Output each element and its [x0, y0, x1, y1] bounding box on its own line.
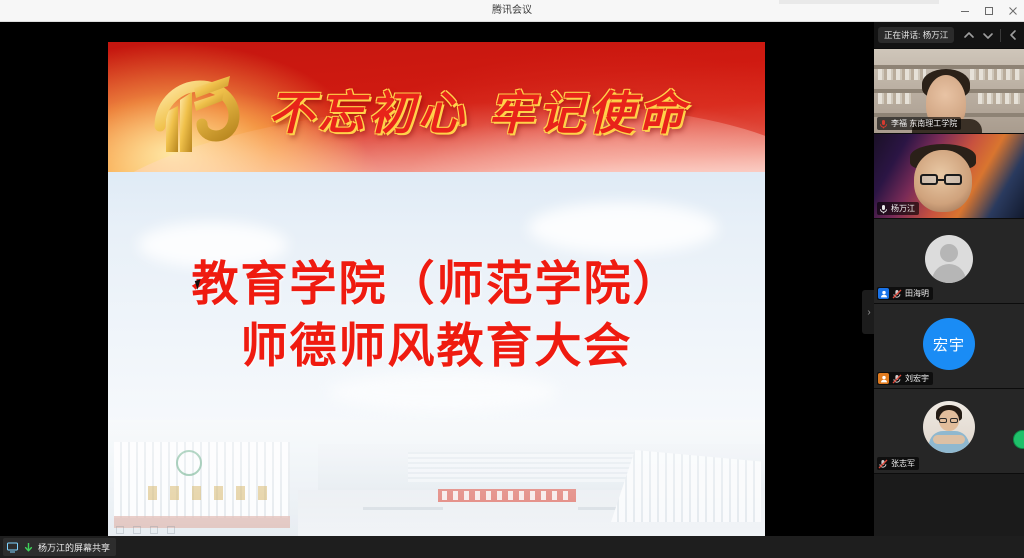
avatar-initials: 宏宇 — [933, 334, 965, 355]
active-speaker-label: 正在讲话: 杨万江 — [878, 27, 954, 43]
mic-muted-icon — [878, 458, 888, 469]
shared-screen-stage: 不忘初心 牢记使命 教育学院（师范学院） 师德师风教育大会 — [0, 22, 874, 538]
eyeglass-bridge — [938, 179, 946, 181]
toolbar-divider — [1000, 29, 1001, 42]
presentation-slide[interactable]: 不忘初心 牢记使命 教育学院（师范学院） 师德师风教育大会 — [108, 42, 765, 536]
participant-name: 杨万江 — [891, 203, 915, 214]
collapse-panel-icon[interactable] — [1006, 28, 1020, 42]
slogan-text: 不忘初心 牢记使命 — [268, 77, 688, 143]
meeting-shell: 不忘初心 牢记使命 教育学院（师范学院） 师德师风教育大会 — [0, 22, 1024, 558]
scroll-up-icon[interactable] — [962, 28, 976, 42]
participant-nameplate: 田海明 — [877, 287, 933, 300]
participant-name: 李福 东南理工学院 — [891, 118, 957, 129]
collapse-chevron-glyph: › — [867, 307, 870, 318]
participant-tile[interactable]: 宏宇 刘宏宇 — [874, 304, 1024, 388]
participant-tile[interactable]: 杨万江 — [874, 134, 1024, 218]
participant-nameplate: 刘宏宇 — [877, 372, 933, 385]
cloud-shape — [328, 372, 558, 412]
photo-tool-icon — [116, 526, 124, 534]
download-arrow-icon — [22, 541, 34, 553]
host-badge-icon — [878, 288, 889, 299]
mic-muted-icon — [892, 373, 902, 384]
photo-haze-overlay — [108, 420, 765, 536]
mic-active-icon — [878, 203, 888, 214]
participant-name: 刘宏宇 — [905, 373, 929, 384]
default-avatar-icon — [925, 235, 973, 283]
slide-slogan: 不忘初心 牢记使命 — [268, 60, 738, 160]
participant-nameplate: 张志军 — [877, 457, 919, 470]
campus-photo — [108, 420, 765, 536]
participant-nameplate: 李福 东南理工学院 — [877, 117, 961, 130]
minimize-button[interactable] — [958, 4, 972, 18]
scroll-down-icon[interactable] — [981, 28, 995, 42]
window-title: 腾讯会议 — [0, 0, 1024, 22]
slide-title-line-2: 师德师风教育大会 — [108, 316, 765, 378]
os-taskbar: 杨万江的屏幕共享 — [0, 536, 1024, 558]
participant-tile[interactable]: 张志军 — [874, 389, 1024, 473]
participant-sidebar: 正在讲话: 杨万江 — [874, 22, 1024, 558]
photo-avatar — [923, 401, 975, 453]
maximize-button[interactable] — [982, 4, 996, 18]
photo-toolbar — [116, 526, 175, 534]
taskbar-item-label: 杨万江的屏幕共享 — [38, 541, 110, 554]
sidebar-toolbar: 正在讲话: 杨万江 — [874, 22, 1024, 48]
slide-banner: 不忘初心 牢记使命 — [108, 42, 765, 172]
cloud-shape — [528, 202, 718, 254]
mic-muted-icon — [892, 288, 902, 299]
participant-name: 张志军 — [891, 458, 915, 469]
mic-active-icon — [878, 118, 888, 129]
party-emblem-icon — [136, 66, 246, 162]
photo-tool-icon — [150, 526, 158, 534]
participant-tile[interactable]: 田海明 — [874, 219, 1024, 303]
monitor-icon — [6, 541, 18, 553]
app-root: 腾讯会议 — [0, 0, 1024, 558]
eyeglass-right — [944, 174, 962, 185]
window-titlebar: 腾讯会议 — [0, 0, 1024, 22]
slide-title-line-1: 教育学院（师范学院） — [108, 254, 765, 316]
initials-avatar: 宏宇 — [923, 318, 975, 370]
participant-tile[interactable]: 李福 东南理工学院 — [874, 49, 1024, 133]
eyeglass-left — [920, 174, 938, 185]
window-controls — [958, 0, 1020, 22]
cohost-badge-icon — [878, 373, 889, 384]
close-button[interactable] — [1006, 4, 1020, 18]
screen-share-task[interactable]: 杨万江的屏幕共享 — [3, 538, 116, 556]
photo-tool-icon — [167, 526, 175, 534]
participant-name: 田海明 — [905, 288, 929, 299]
photo-tool-icon — [133, 526, 141, 534]
slide-title-block: 教育学院（师范学院） 师德师风教育大会 — [108, 254, 765, 378]
participant-nameplate: 杨万江 — [877, 202, 919, 215]
sidebar-nav-controls — [962, 28, 1020, 42]
